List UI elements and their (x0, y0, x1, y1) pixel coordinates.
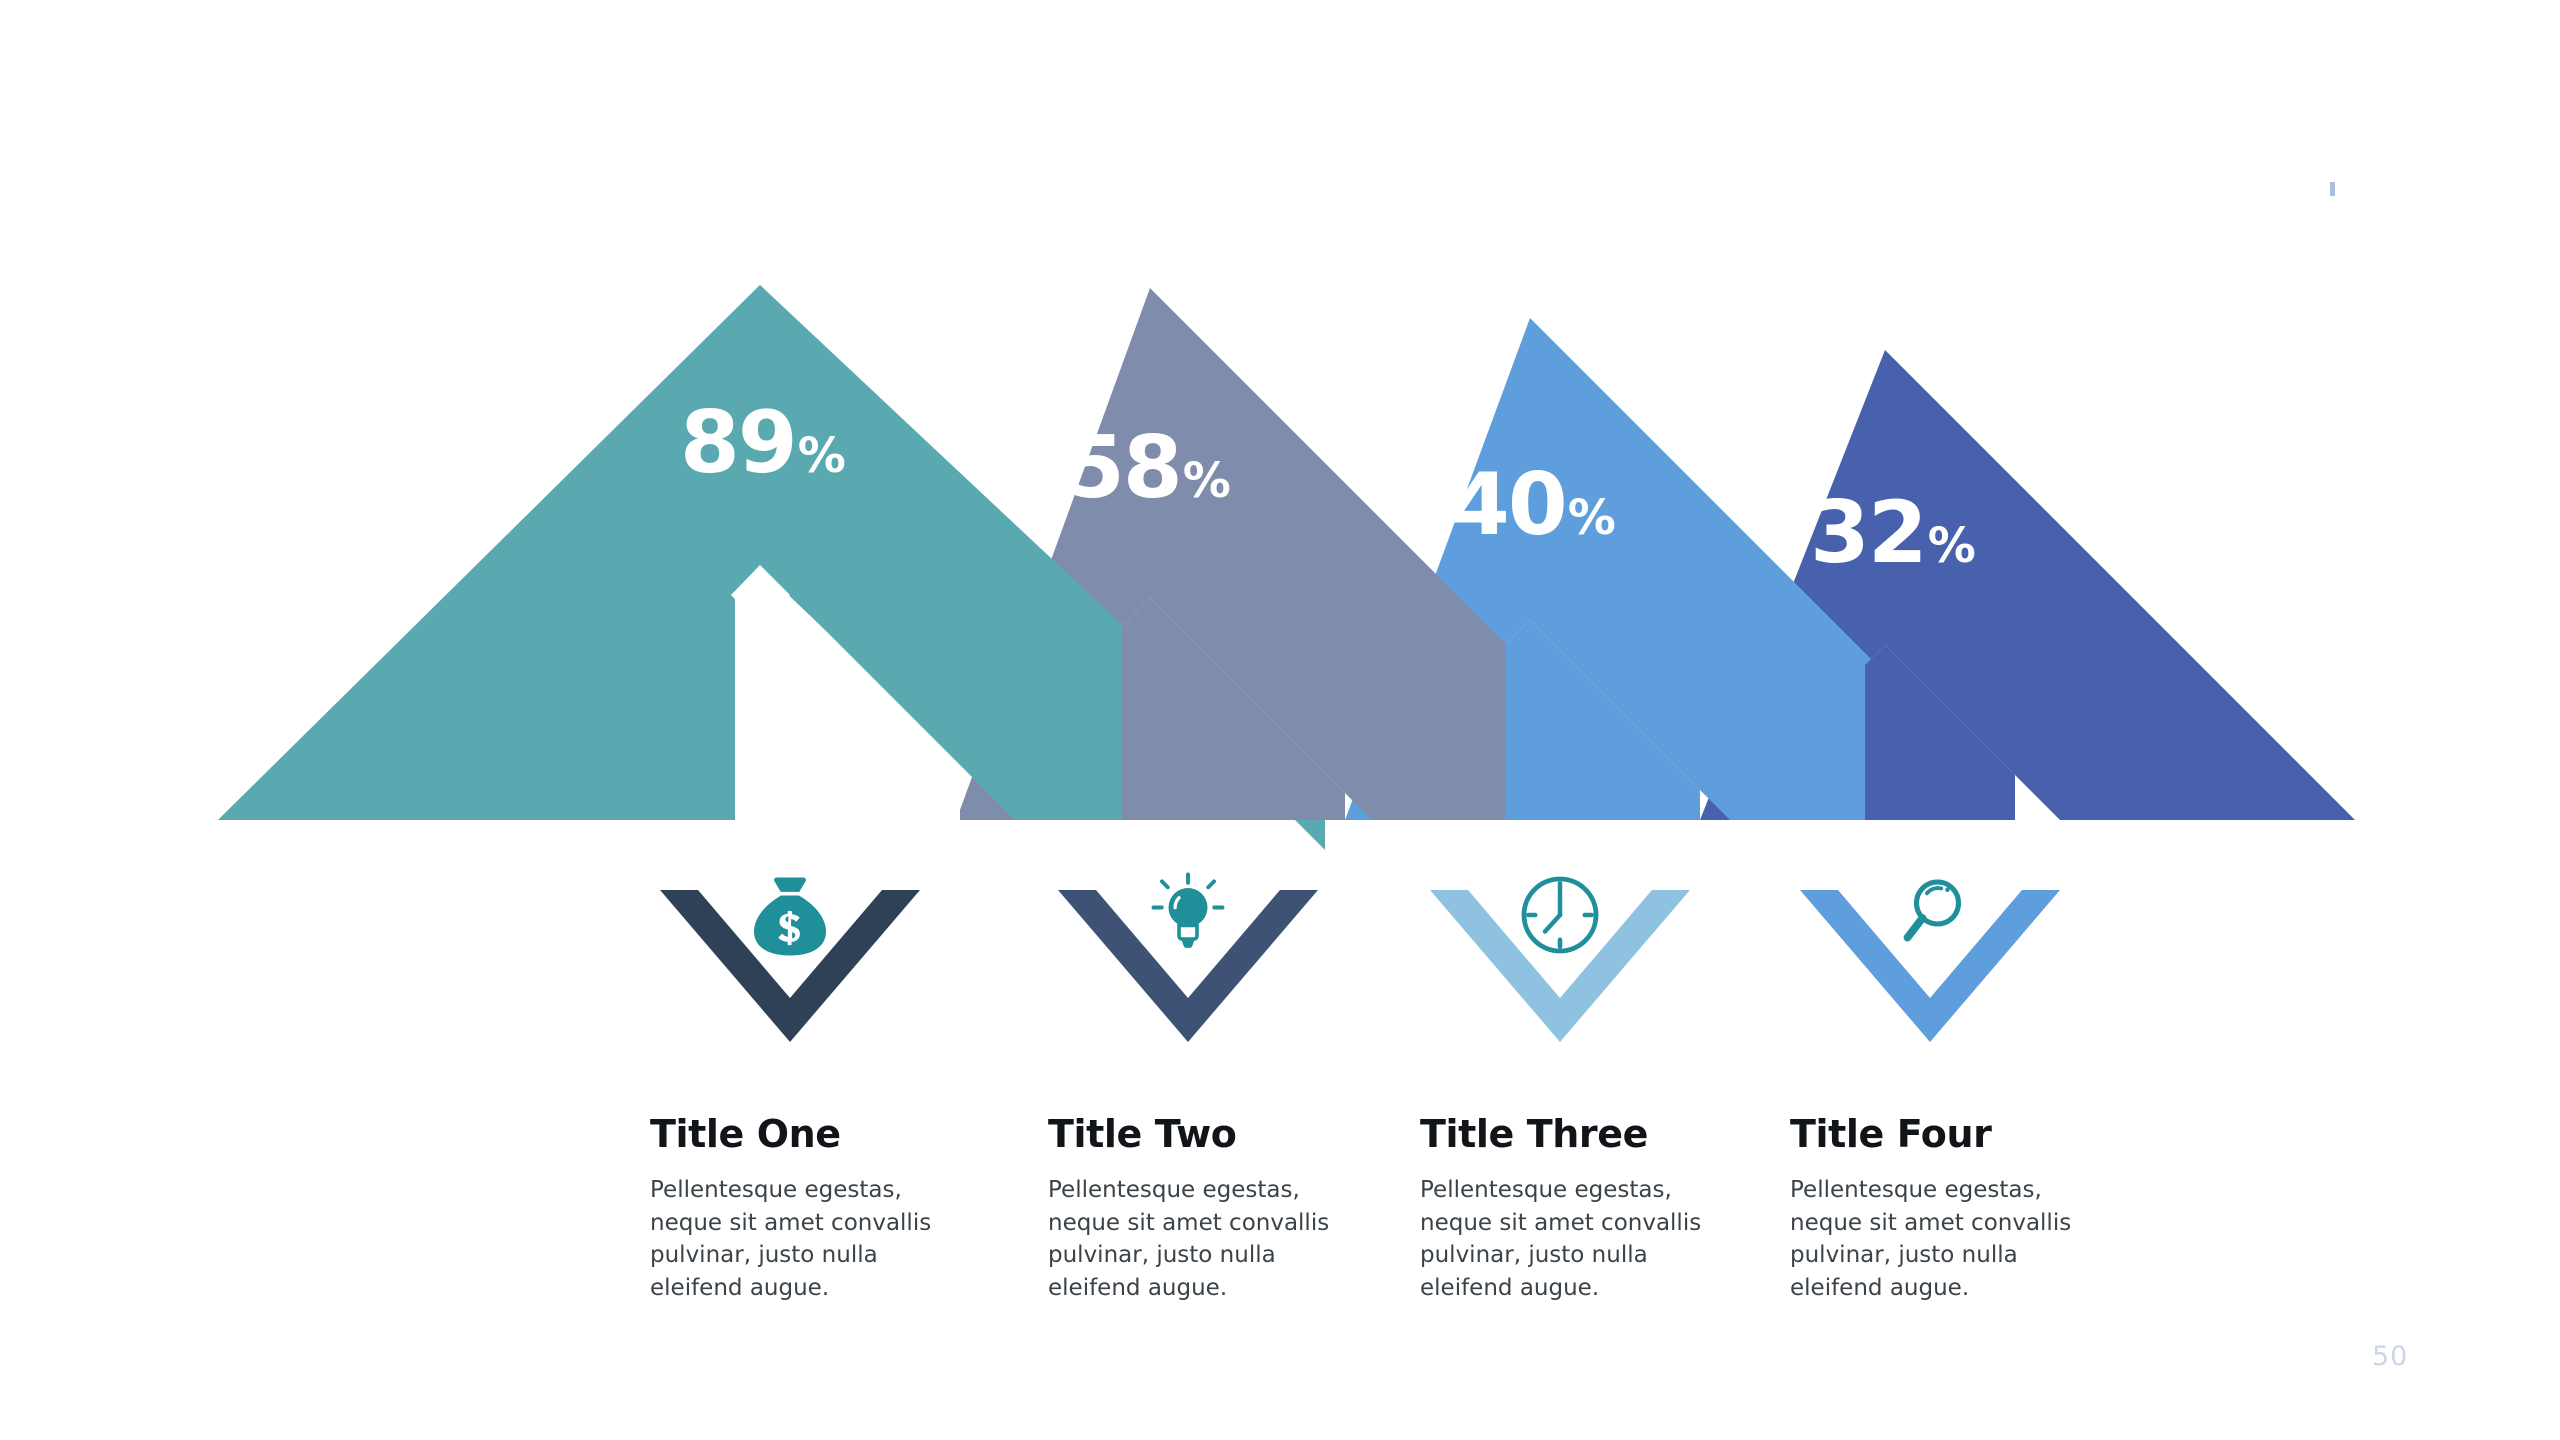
chevron-wrap-2 (1048, 870, 1328, 1070)
info-card-1[interactable]: Title One Pellentesque egestas, neque si… (650, 870, 1040, 1305)
card-body-1: Pellentesque egestas, neque sit amet con… (650, 1174, 950, 1305)
info-card-2[interactable]: Title Two Pellentesque egestas, neque si… (1048, 870, 1438, 1305)
card-title-4: Title Four (1790, 1112, 2180, 1156)
magnifier-icon (1882, 870, 1978, 966)
card-body-4: Pellentesque egestas, neque sit amet con… (1790, 1174, 2090, 1305)
chevron-wrap-1 (650, 870, 930, 1070)
mountain-chart (0, 0, 2560, 900)
card-title-2: Title Two (1048, 1112, 1438, 1156)
lightbulb-icon (1140, 870, 1236, 966)
page-number: 50 (2372, 1341, 2408, 1372)
card-body-3: Pellentesque egestas, neque sit amet con… (1420, 1174, 1720, 1305)
chevron-wrap-3 (1420, 870, 1700, 1070)
chevron-wrap-4 (1790, 870, 2070, 1070)
card-title-1: Title One (650, 1112, 1040, 1156)
money-bag-icon (742, 870, 838, 966)
clock-icon (1512, 870, 1608, 966)
card-body-2: Pellentesque egestas, neque sit amet con… (1048, 1174, 1348, 1305)
card-title-3: Title Three (1420, 1112, 1810, 1156)
card-row: Title One Pellentesque egestas, neque si… (0, 870, 2560, 1350)
info-card-3[interactable]: Title Three Pellentesque egestas, neque … (1420, 870, 1810, 1305)
info-card-4[interactable]: Title Four Pellentesque egestas, neque s… (1790, 870, 2180, 1305)
slide-canvas: 89% 58% 40% 32% Title One (0, 0, 2560, 1440)
